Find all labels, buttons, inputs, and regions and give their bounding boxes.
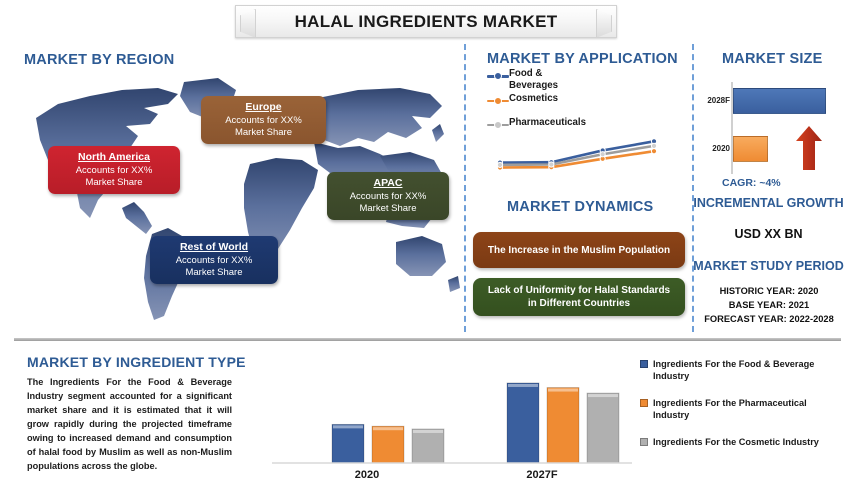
legend-item-cosmetics: Cosmetics (487, 93, 662, 107)
bar-2028 (733, 88, 826, 114)
market-study-period-heading: MARKET STUDY PERIOD (686, 259, 851, 273)
market-size-heading: MARKET SIZE (722, 51, 822, 67)
ingredient-legend: Ingredients For the Food & Beverage Indu… (640, 358, 845, 462)
legend-label: Ingredients For the Food & Beverage Indu… (653, 358, 845, 383)
ingredient-bar-chart: 2020 2027F (272, 363, 632, 483)
incremental-growth-value: USD XX BN (686, 227, 851, 241)
region-line1: Accounts for XX% (56, 165, 172, 176)
legend-item-food-beverage: Ingredients For the Food & Beverage Indu… (640, 358, 845, 383)
region-name: APAC (335, 177, 441, 189)
legend-item-cosmetic: Ingredients For the Cosmetic Industry (640, 436, 845, 448)
legend-swatch-icon (640, 360, 648, 368)
dynamics-restraint-box[interactable]: Lack of Uniformity for Halal Standards i… (473, 278, 685, 316)
svg-text:2027F: 2027F (526, 469, 557, 481)
legend-label: Ingredients For the Pharmaceutical Indus… (653, 397, 845, 422)
historic-year: HISTORIC YEAR: 2020 (679, 286, 855, 296)
svg-text:2020: 2020 (355, 469, 379, 481)
line-marker-icon (487, 70, 509, 82)
region-line1: Accounts for XX% (158, 255, 270, 266)
ingredient-paragraph: The Ingredients For the Food & Beverage … (27, 376, 232, 474)
forecast-year: FORECAST YEAR: 2022-2028 (679, 314, 855, 324)
region-callout-europe[interactable]: Europe Accounts for XX% Market Share (201, 96, 326, 144)
application-line-chart (492, 128, 662, 180)
dynamics-text: Lack of Uniformity for Halal Standards i… (483, 284, 675, 310)
legend-label: Food & Beverages (509, 68, 558, 92)
bar-2020 (733, 136, 768, 162)
market-size-chart: 2028F 2020 (700, 82, 850, 174)
legend-swatch-icon (640, 438, 648, 446)
region-callout-rest-of-world[interactable]: Rest of World Accounts for XX% Market Sh… (150, 236, 278, 284)
market-by-region-heading: MARKET BY REGION (24, 52, 174, 68)
legend-label: Cosmetics (509, 93, 558, 105)
bar-label-2028: 2028F (700, 96, 730, 105)
base-year: BASE YEAR: 2021 (679, 300, 855, 310)
infographic-page: HALAL INGREDIENTS MARKET MARKET BY REGIO… (0, 0, 855, 495)
market-by-ingredient-type-heading: MARKET BY INGREDIENT TYPE (27, 354, 246, 370)
region-line2: Market Share (335, 203, 441, 214)
region-name: Rest of World (158, 241, 270, 253)
incremental-growth-heading: INCREMENTAL GROWTH (686, 196, 851, 210)
region-name: Europe (209, 101, 318, 113)
region-line2: Market Share (209, 127, 318, 138)
legend-item-pharmaceutical: Ingredients For the Pharmaceutical Indus… (640, 397, 845, 422)
legend-label: Ingredients For the Cosmetic Industry (653, 436, 819, 448)
region-line1: Accounts for XX% (335, 191, 441, 202)
region-line2: Market Share (158, 267, 270, 278)
region-callout-north-america[interactable]: North America Accounts for XX% Market Sh… (48, 146, 180, 194)
title-banner: HALAL INGREDIENTS MARKET (235, 5, 617, 38)
dynamics-text: The Increase in the Muslim Population (488, 244, 670, 257)
line-marker-icon (487, 95, 509, 107)
divider-horizontal (14, 338, 841, 341)
application-legend: Food & Beverages Cosmetics Pharmaceutica… (487, 68, 662, 132)
growth-arrow-icon (796, 126, 822, 170)
market-dynamics-heading: MARKET DYNAMICS (507, 199, 653, 215)
cagr-label: CAGR: ~4% (722, 177, 781, 189)
divider-vertical-left (464, 44, 466, 332)
page-title: HALAL INGREDIENTS MARKET (295, 12, 558, 32)
market-by-application-heading: MARKET BY APPLICATION (487, 51, 678, 67)
region-line1: Accounts for XX% (209, 115, 318, 126)
region-name: North America (56, 151, 172, 163)
region-line2: Market Share (56, 177, 172, 188)
bar-label-2020: 2020 (700, 144, 730, 153)
dynamics-driver-box[interactable]: The Increase in the Muslim Population (473, 232, 685, 268)
region-callout-apac[interactable]: APAC Accounts for XX% Market Share (327, 172, 449, 220)
legend-swatch-icon (640, 399, 648, 407)
legend-label: Pharmaceuticals (509, 117, 586, 129)
legend-item-food-beverages: Food & Beverages (487, 68, 662, 92)
